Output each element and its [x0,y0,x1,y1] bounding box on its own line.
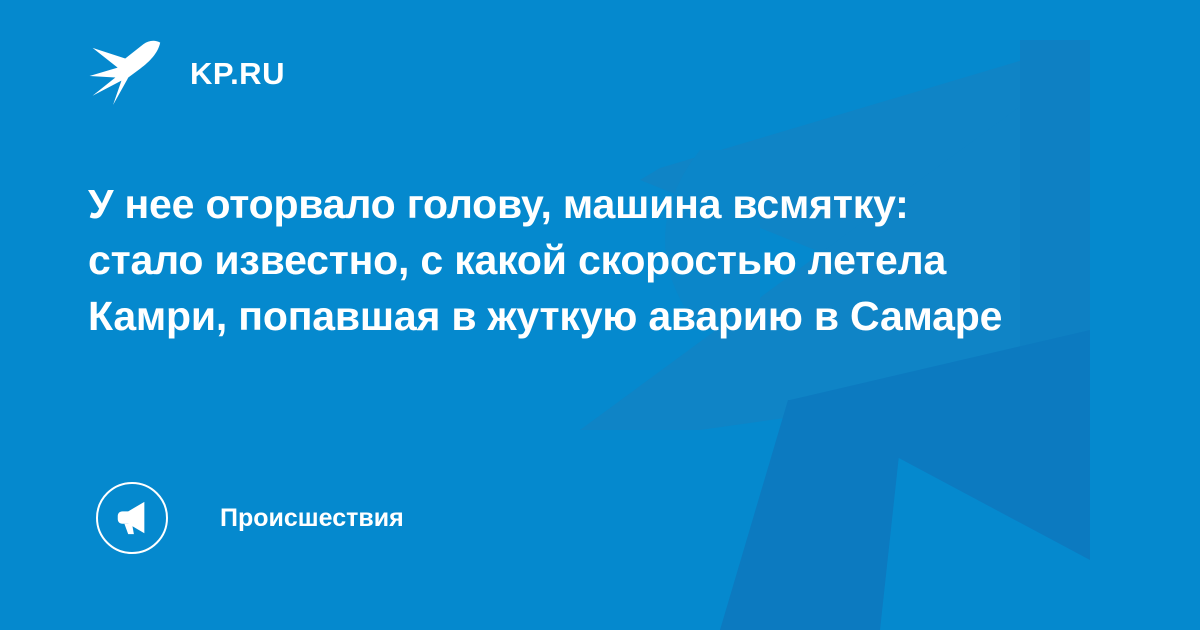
site-wordmark: KP.RU [190,58,285,89]
category-badge[interactable]: Происшествия [96,482,404,554]
swallow-bird-icon [88,38,164,108]
category-icon-circle [96,482,168,554]
site-header[interactable]: KP.RU [88,34,285,112]
share-card: KP.RU У нее оторвало голову, машина всмя… [0,0,1200,630]
megaphone-icon [113,499,151,537]
category-badge-label: Происшествия [220,506,404,531]
page-title: У нее оторвало голову, машина всмятку: с… [88,176,1018,344]
